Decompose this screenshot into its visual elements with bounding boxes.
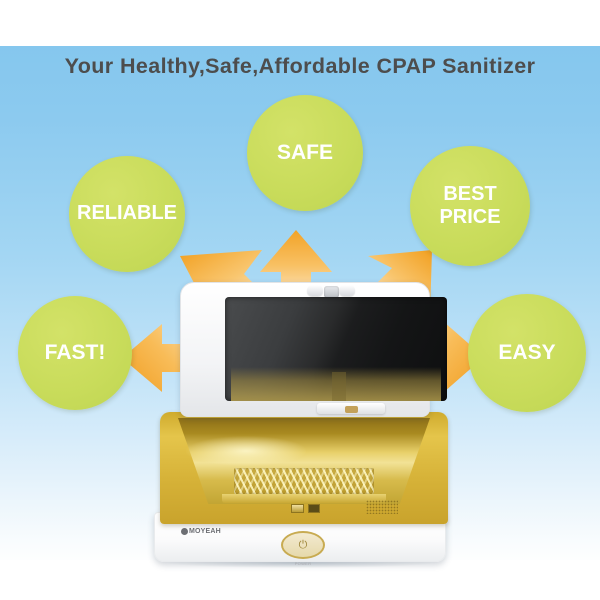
hinge-left-icon — [307, 285, 323, 296]
promo-banner: Your Healthy,Safe,Affordable CPAP Saniti… — [0, 0, 600, 600]
device-gold-body — [160, 412, 448, 524]
benefit-bubble-fast-label: FAST! — [45, 341, 106, 365]
benefit-bubble-safe-label: SAFE — [277, 141, 333, 165]
cpap-sanitizer-device: MOYEAH ⏻ POWER — [150, 282, 450, 564]
brand-logo: MOYEAH — [181, 528, 221, 535]
benefit-bubble-reliable-label: RELIABLE — [77, 202, 177, 225]
brand-name: MOYEAH — [189, 528, 221, 535]
power-button[interactable]: ⏻ — [281, 531, 325, 559]
port-b[interactable] — [308, 504, 320, 513]
window-reflection — [231, 367, 441, 401]
page-title: Your Healthy,Safe,Affordable CPAP Saniti… — [0, 54, 600, 79]
tray-highlight — [186, 436, 306, 466]
benefit-bubble-best-price-label-line1: BEST — [439, 183, 500, 206]
vent-grille-icon — [366, 500, 398, 514]
power-icon: ⏻ — [299, 540, 308, 551]
benefit-bubble-safe[interactable]: SAFE — [247, 95, 363, 211]
benefit-bubble-best-price-label-line2: PRICE — [439, 206, 500, 229]
tray-front-ledge — [222, 494, 386, 503]
hinge-right-icon — [339, 285, 355, 296]
brand-mark-icon — [181, 528, 188, 535]
port-a[interactable] — [291, 504, 304, 513]
benefit-bubble-fast[interactable]: FAST! — [18, 296, 132, 410]
benefit-bubble-easy-label: EASY — [498, 341, 555, 365]
power-button-caption: POWER — [273, 561, 333, 566]
top-white-band — [0, 0, 600, 48]
device-lid[interactable] — [180, 282, 430, 417]
viewing-window — [225, 297, 447, 401]
benefit-bubble-easy[interactable]: EASY — [468, 294, 586, 412]
lid-latch[interactable] — [317, 403, 385, 414]
benefit-bubble-best-price[interactable]: BEST PRICE — [410, 146, 530, 266]
diamond-grid-plate — [234, 468, 374, 494]
benefit-bubble-reliable[interactable]: RELIABLE — [69, 156, 185, 272]
